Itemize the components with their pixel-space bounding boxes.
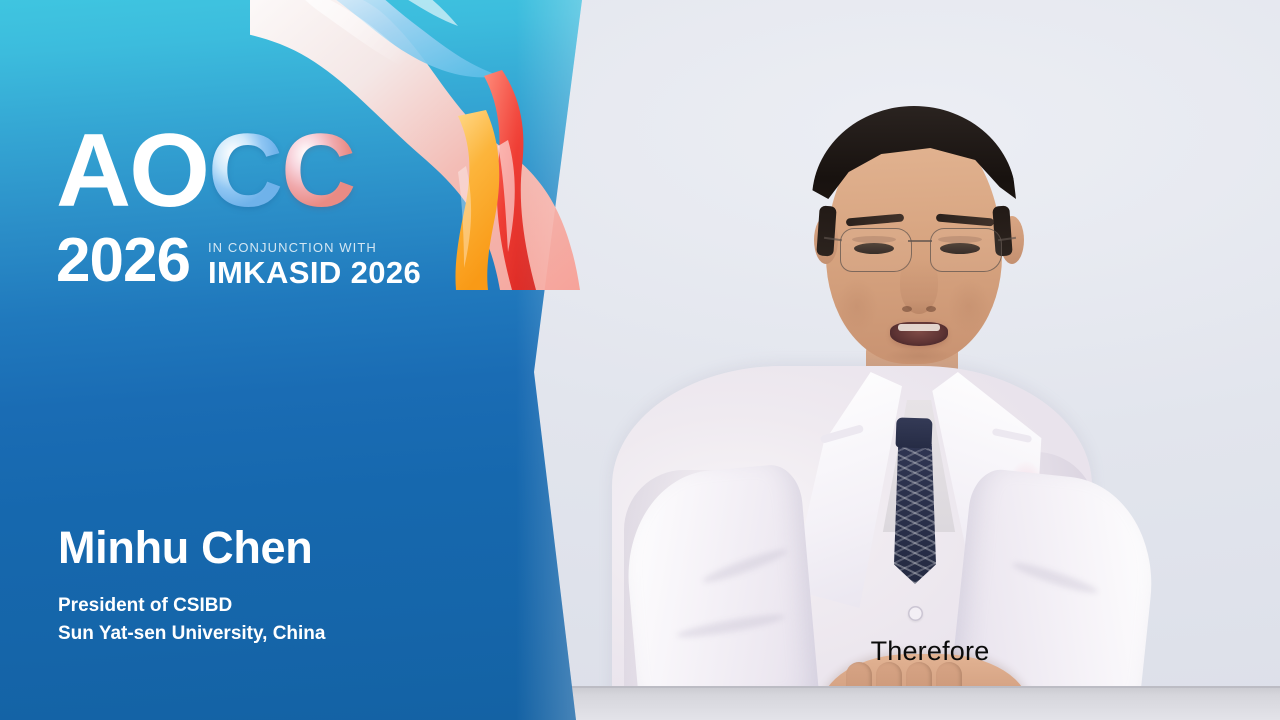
necktie: [894, 444, 936, 584]
video-stage: Therefore: [0, 0, 1280, 720]
desk-surface: [560, 686, 1280, 720]
eyeglasses-lens-right: [930, 228, 1002, 272]
eyeglasses-lens-left: [840, 228, 912, 272]
nostril-right: [926, 306, 936, 312]
logo-letter-o: O: [129, 127, 208, 216]
eyeglasses-bridge: [908, 240, 932, 242]
cheek-left: [836, 278, 878, 334]
speaker-lower-third: Minhu Chen President of CSIBD Sun Yat-se…: [58, 524, 528, 647]
teeth: [898, 324, 940, 331]
necktie-knot: [895, 417, 932, 448]
conjunction-label: IN CONJUNCTION WITH: [208, 240, 421, 255]
speaker-details: President of CSIBD Sun Yat-sen Universit…: [58, 593, 528, 646]
nostril-left: [902, 306, 912, 312]
speaker-affiliation: Sun Yat-sen University, China: [58, 621, 528, 647]
sideburn-left: [816, 205, 836, 256]
logo-subline: 2026 IN CONJUNCTION WITH IMKASID 2026: [56, 230, 526, 292]
conjunction-event: IMKASID 2026: [208, 257, 421, 288]
logo-letter-c2: C: [281, 127, 354, 216]
logo-letters: A O C C: [56, 124, 526, 216]
speaker-name: Minhu Chen: [58, 524, 528, 571]
cheek-right: [948, 278, 990, 334]
conjunction-block: IN CONJUNCTION WITH IMKASID 2026: [208, 240, 421, 292]
video-subtitle: Therefore: [580, 636, 1280, 667]
coat-button: [908, 606, 923, 621]
chin-shadow: [884, 348, 954, 364]
event-year: 2026: [56, 230, 190, 292]
logo-letter-c1: C: [208, 127, 281, 216]
speaker-title: President of CSIBD: [58, 593, 528, 619]
aocc-logo: A O C C 2026 IN CONJUNCTION WITH IMKASID…: [56, 124, 526, 292]
logo-letter-a: A: [56, 127, 129, 216]
